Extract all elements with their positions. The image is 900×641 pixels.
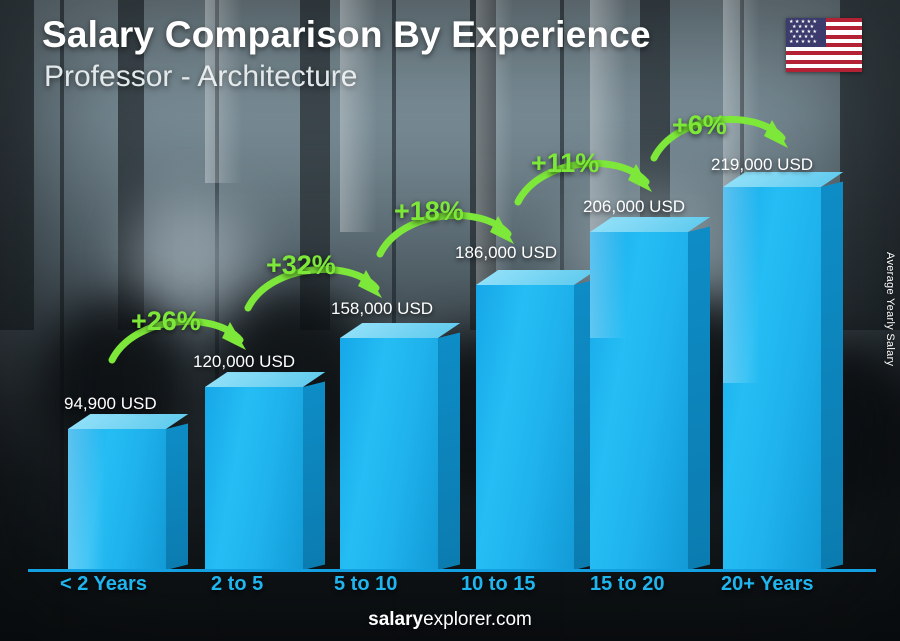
bar-4	[590, 0, 688, 570]
bar-3	[476, 0, 574, 570]
category-label-3: 10 to 15	[461, 573, 535, 596]
change-label-2: +18%	[394, 196, 464, 227]
bar-5	[723, 0, 821, 570]
site-brand: salaryexplorer.com	[0, 609, 900, 631]
brand-tld: .com	[491, 609, 532, 630]
baseline	[28, 569, 876, 572]
brand-light: explorer	[423, 609, 491, 630]
change-label-3: +11%	[531, 148, 599, 179]
value-label-0: 94,900 USD	[64, 394, 157, 414]
bar-chart: 94,900 USD 120,000 USD 158,000 USD 186,0…	[0, 0, 900, 641]
brand-bold: salary	[368, 609, 423, 630]
change-label-4: +6%	[672, 110, 727, 141]
category-label-2: 5 to 10	[334, 573, 397, 596]
category-label-5: 20+ Years	[721, 573, 814, 596]
category-label-1: 2 to 5	[211, 573, 263, 596]
category-label-4: 15 to 20	[590, 573, 664, 596]
category-label-0: < 2 Years	[60, 573, 147, 596]
change-label-1: +32%	[266, 250, 336, 281]
change-label-0: +26%	[131, 306, 201, 337]
bar-0	[68, 0, 166, 570]
